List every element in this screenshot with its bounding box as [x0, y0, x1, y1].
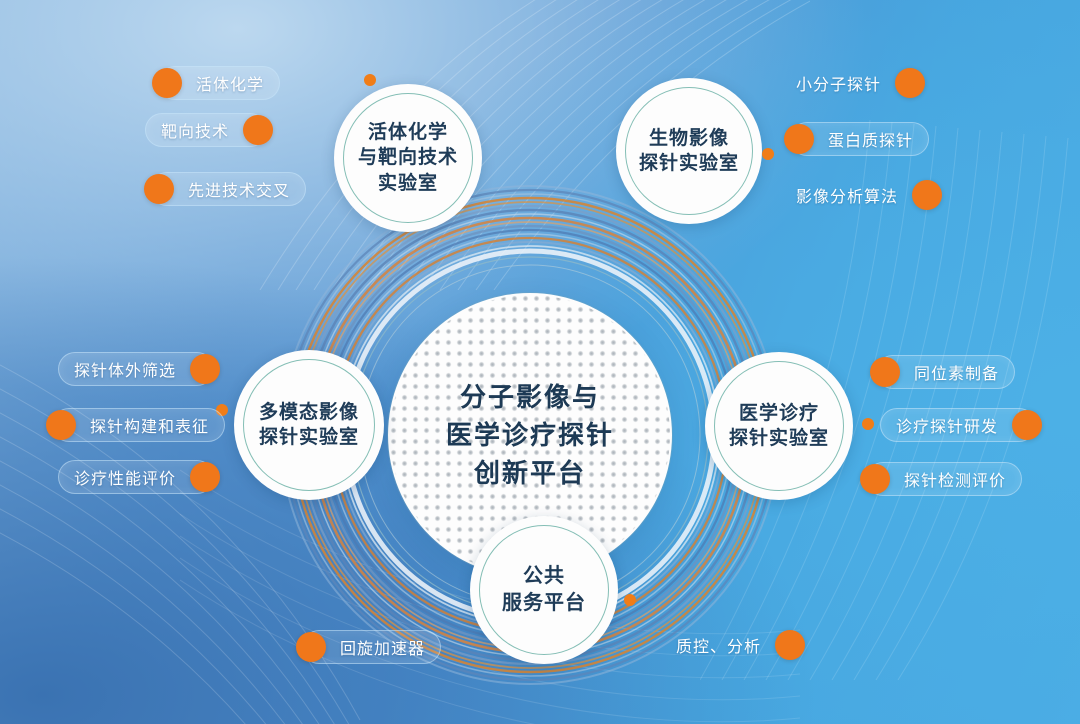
pill-label: 蛋白质探针 — [828, 127, 913, 151]
pill-probe-rd[interactable]: 诊疗探针研发 — [880, 408, 1036, 442]
pill-dot-icon — [895, 68, 925, 98]
node-line: 生物影像 — [639, 126, 739, 151]
pill-label: 先进技术交叉 — [188, 177, 290, 201]
pill-probe-construct[interactable]: 探针构建和表征 — [52, 408, 225, 442]
pill-dot-icon — [190, 354, 220, 384]
node-medical-dx-lab-label: 医学诊疗 探针实验室 — [729, 401, 829, 452]
pill-dot-icon — [784, 124, 814, 154]
pill-protein-probe[interactable]: 蛋白质探针 — [790, 122, 929, 156]
pill-qc-analysis[interactable]: 质控、分析 — [660, 628, 799, 662]
pill-dot-icon — [860, 464, 890, 494]
pill-advanced-crossover[interactable]: 先进技术交叉 — [150, 172, 306, 206]
pill-dot-icon — [870, 357, 900, 387]
connector-dot-medical-dx — [862, 418, 874, 430]
node-line: 活体化学 — [358, 120, 458, 145]
pill-label: 诊疗性能评价 — [74, 465, 176, 489]
pill-dot-icon — [152, 68, 182, 98]
node-line: 实验室 — [358, 171, 458, 196]
node-multimodal-lab[interactable]: 多模态影像 探针实验室 — [234, 350, 384, 500]
pill-label: 靶向技术 — [161, 118, 229, 142]
node-line: 探针实验室 — [729, 426, 829, 451]
pill-image-algorithm[interactable]: 影像分析算法 — [780, 178, 936, 212]
center-line-2: 医学诊疗探针 — [446, 418, 614, 452]
pill-label: 影像分析算法 — [796, 183, 898, 207]
connector-dot-bio-imaging — [762, 148, 774, 160]
pill-dot-icon — [190, 462, 220, 492]
pill-label: 小分子探针 — [796, 71, 881, 95]
pill-live-chemistry[interactable]: 活体化学 — [158, 66, 280, 100]
node-line: 探针实验室 — [259, 425, 359, 450]
pill-small-molecule[interactable]: 小分子探针 — [780, 66, 919, 100]
pill-in-vitro-screen[interactable]: 探针体外筛选 — [58, 352, 214, 386]
node-line: 与靶向技术 — [358, 145, 458, 170]
pill-label: 质控、分析 — [676, 633, 761, 657]
node-line: 探针实验室 — [639, 151, 739, 176]
pill-dot-icon — [144, 174, 174, 204]
pill-probe-detection[interactable]: 探针检测评价 — [866, 462, 1022, 496]
pill-dot-icon — [46, 410, 76, 440]
node-public-service-platform[interactable]: 公共 服务平台 — [470, 516, 618, 664]
node-live-chem-lab-label: 活体化学 与靶向技术 实验室 — [358, 120, 458, 196]
pill-label: 活体化学 — [196, 71, 264, 95]
connector-dot-live-chem — [364, 74, 376, 86]
pill-label: 诊疗探针研发 — [896, 413, 998, 437]
pill-label: 探针体外筛选 — [74, 357, 176, 381]
node-bio-imaging-lab[interactable]: 生物影像 探针实验室 — [616, 78, 762, 224]
pill-cyclotron[interactable]: 回旋加速器 — [302, 630, 441, 664]
pill-label: 回旋加速器 — [340, 635, 425, 659]
node-line: 服务平台 — [502, 590, 586, 617]
pill-isotope-prep[interactable]: 同位素制备 — [876, 355, 1015, 389]
node-medical-dx-lab[interactable]: 医学诊疗 探针实验室 — [705, 352, 853, 500]
center-line-1: 分子影像与 — [460, 380, 600, 414]
pill-dot-icon — [1012, 410, 1042, 440]
node-line: 医学诊疗 — [729, 401, 829, 426]
pill-targeting-tech[interactable]: 靶向技术 — [145, 113, 267, 147]
center-line-3: 创新平台 — [474, 456, 586, 490]
pill-label: 探针构建和表征 — [90, 413, 209, 437]
pill-dot-icon — [775, 630, 805, 660]
node-line: 公共 — [502, 563, 586, 590]
pill-dot-icon — [296, 632, 326, 662]
pill-label: 探针检测评价 — [904, 467, 1006, 491]
node-live-chem-lab[interactable]: 活体化学 与靶向技术 实验室 — [334, 84, 482, 232]
pill-label: 同位素制备 — [914, 360, 999, 384]
pill-dot-icon — [243, 115, 273, 145]
pill-perf-evaluation[interactable]: 诊疗性能评价 — [58, 460, 214, 494]
node-line: 多模态影像 — [259, 400, 359, 425]
infographic-canvas: 分子影像与 医学诊疗探针 创新平台 活体化学 与靶向技术 实验室 生物影像 探针… — [0, 0, 1080, 724]
node-multimodal-lab-label: 多模态影像 探针实验室 — [259, 400, 359, 451]
node-public-service-platform-label: 公共 服务平台 — [502, 563, 586, 617]
pill-dot-icon — [912, 180, 942, 210]
node-bio-imaging-lab-label: 生物影像 探针实验室 — [639, 126, 739, 177]
connector-dot-public-service — [624, 594, 636, 606]
